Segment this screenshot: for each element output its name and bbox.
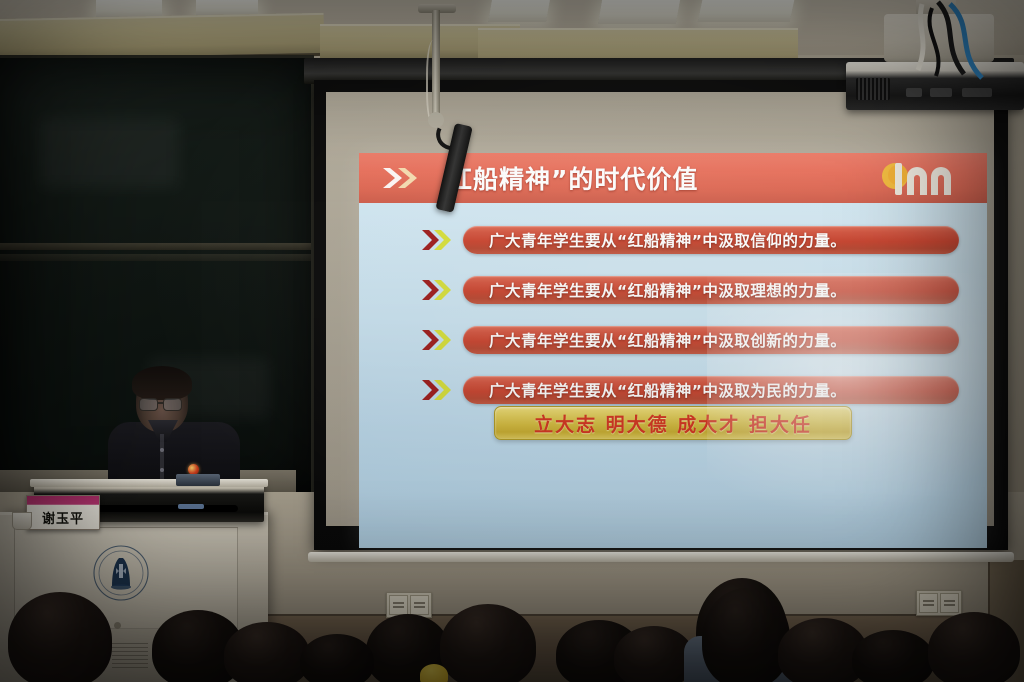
podium-vent — [112, 640, 148, 670]
bullet-text: 广大青年学生要从“红船精神”中汲取理想的力量。 — [463, 279, 846, 301]
student-head — [614, 626, 694, 682]
bullet-row: 广大青年学生要从“红船精神”中汲取为民的力量。 — [359, 375, 987, 405]
bullet-text: 广大青年学生要从“红船精神”中汲取信仰的力量。 — [463, 229, 846, 251]
eyeglasses-icon — [163, 398, 182, 411]
student-head — [702, 588, 790, 682]
podium-knob[interactable] — [114, 622, 121, 629]
name-plate-text: 谢玉平 — [42, 508, 84, 529]
bullet-row: 广大青年学生要从“红船精神”中汲取理想的力量。 — [359, 275, 987, 305]
motto-banner: 立大志 明大德 成大才 担大任 — [494, 406, 852, 440]
bullet-list: 广大青年学生要从“红船精神”中汲取信仰的力量。 广大青年学生要从“红船精神”中汲… — [359, 225, 987, 425]
projection-screen: 红船精神”的时代价值 — [304, 58, 1014, 564]
student-head — [440, 604, 536, 682]
bullet-row: 广大青年学生要从“红船精神”中汲取创新的力量。 — [359, 325, 987, 355]
lectern-desk-top — [30, 479, 268, 487]
speaker-hair — [132, 366, 192, 400]
lectern-indicator — [178, 504, 204, 509]
wall-socket[interactable] — [916, 590, 962, 616]
university-crest-icon — [92, 544, 150, 602]
student-head — [852, 630, 934, 682]
student-head — [300, 634, 374, 682]
bullet-bar: 广大青年学生要从“红船精神”中汲取为民的力量。 — [463, 376, 959, 404]
lectern-monitor[interactable] — [176, 474, 220, 486]
double-chevron-icon — [421, 378, 455, 402]
double-chevron-icon — [421, 278, 455, 302]
yellow-object — [420, 664, 448, 682]
bullet-text: 广大青年学生要从“红船精神”中汲取为民的力量。 — [463, 379, 846, 401]
projector-cables — [846, 0, 1024, 110]
screen-roller-bar — [308, 552, 1014, 562]
bullet-bar: 广大青年学生要从“红船精神”中汲取创新的力量。 — [463, 326, 959, 354]
eyeglasses-bridge — [157, 402, 164, 404]
ceiling-light — [598, 0, 680, 24]
lecture-hall-photo: 红船精神”的时代价值 — [0, 0, 1024, 682]
ceiling-light — [488, 0, 550, 22]
bullet-row: 广大青年学生要从“红船精神”中汲取信仰的力量。 — [359, 225, 987, 255]
anniversary-100-logo — [871, 157, 967, 201]
bullet-bar: 广大青年学生要从“红船精神”中汲取信仰的力量。 — [463, 226, 959, 254]
double-chevron-icon — [381, 165, 421, 191]
student-head — [928, 612, 1020, 682]
eyeglasses-icon — [139, 398, 158, 411]
motto-text: 立大志 明大德 成大才 担大任 — [534, 410, 812, 437]
student-head — [8, 592, 112, 682]
bullet-bar: 广大青年学生要从“红船精神”中汲取理想的力量。 — [463, 276, 959, 304]
double-chevron-icon — [421, 328, 455, 352]
slide-title: 红船精神”的时代价值 — [447, 160, 698, 196]
motto-banner-wrap: 立大志 明大德 成大才 担大任 — [359, 406, 987, 440]
double-chevron-icon — [421, 228, 455, 252]
presentation-slide: 红船精神”的时代价值 — [359, 153, 987, 548]
ceiling-light — [698, 0, 795, 22]
bullet-text: 广大青年学生要从“红船精神”中汲取创新的力量。 — [463, 329, 846, 351]
water-cup — [12, 512, 32, 530]
name-plate: 谢玉平 — [26, 495, 100, 530]
student-head — [224, 622, 310, 682]
